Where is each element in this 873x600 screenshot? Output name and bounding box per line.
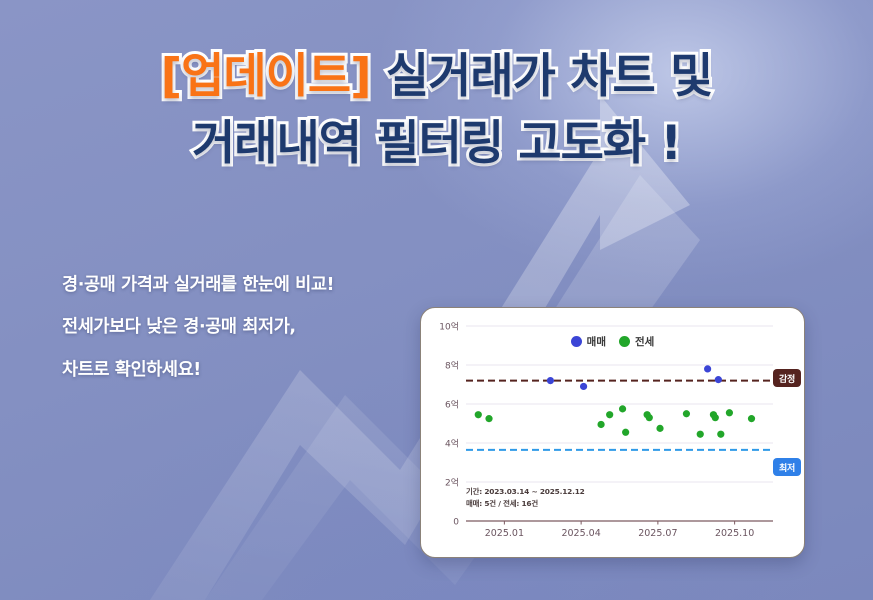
x-tick-label: 2025.04 [561,528,600,539]
data-point-전세 [475,411,482,418]
chart-y-axis-labels: 02억4억6억8억10억 [439,320,459,527]
data-point-매매 [715,376,722,383]
subcopy: 경·공매 가격과 실거래를 한눈에 비교! 전세가보다 낮은 경·공매 최저가,… [62,264,334,391]
chart-note-counts: 매매: 5건 / 전세: 16건 [466,498,585,510]
chart-data-points [475,365,755,438]
data-point-매매 [547,377,554,384]
data-point-전세 [597,421,604,428]
chart-x-axis-labels: 2025.012025.042025.072025.10 [485,521,755,539]
data-point-전세 [606,411,613,418]
y-tick-label: 2억 [445,476,459,488]
data-point-전세 [748,415,755,422]
data-point-전세 [646,414,653,421]
data-point-전세 [619,405,626,412]
chart-card[interactable]: 02억4억6억8억10억 2025.012025.042025.072025.1… [420,307,805,558]
y-tick-label: 4억 [445,437,459,449]
headline-line-2: 거래내역 필터링 고도화 ! [0,111,873,178]
data-point-전세 [622,429,629,436]
y-tick-label: 8억 [445,359,459,371]
scatter-chart[interactable]: 02억4억6억8억10억 2025.012025.042025.072025.1… [421,308,804,557]
data-point-매매 [580,383,587,390]
lowest-badge: 최저 [773,458,801,476]
subcopy-line-1: 경·공매 가격과 실거래를 한눈에 비교! [62,264,334,306]
data-point-전세 [683,410,690,417]
headline-line-1-rest: 실거래가 차트 및 [371,49,713,104]
chart-note-period: 기간: 2023.03.14 ~ 2025.12.12 [466,486,585,498]
subcopy-line-2: 전세가보다 낮은 경·공매 최저가, [62,306,334,348]
x-tick-label: 2025.01 [485,528,524,539]
chart-gridlines [466,326,773,482]
y-tick-label: 6억 [445,398,459,410]
data-point-전세 [712,414,719,421]
y-tick-label: 10억 [439,320,459,332]
chart-note: 기간: 2023.03.14 ~ 2025.12.12 매매: 5건 / 전세:… [466,486,585,510]
data-point-전세 [726,409,733,416]
data-point-전세 [485,415,492,422]
data-point-전세 [697,431,704,438]
headline-accent: [업데이트] [161,49,371,104]
data-point-전세 [656,425,663,432]
headline-line-1: [업데이트] 실거래가 차트 및 [0,44,873,111]
subcopy-line-3: 차트로 확인하세요! [62,349,334,391]
data-point-전세 [717,431,724,438]
page-title: [업데이트] 실거래가 차트 및 거래내역 필터링 고도화 ! [0,44,873,177]
data-point-매매 [704,365,711,372]
y-tick-label: 0 [453,517,459,527]
x-tick-label: 2025.07 [638,528,677,539]
chart-svg: 02억4억6억8억10억 2025.012025.042025.072025.1… [421,308,805,558]
x-tick-label: 2025.10 [715,528,754,539]
appraisal-badge: 감정 [773,369,801,387]
